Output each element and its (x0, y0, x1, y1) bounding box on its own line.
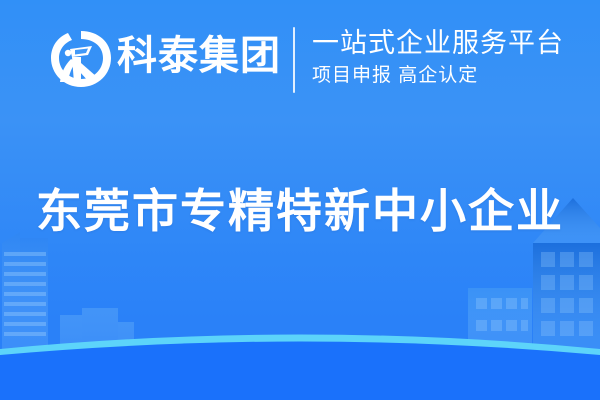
ground-band (0, 342, 600, 400)
brand-name: 科泰集团 (117, 30, 281, 82)
ketai-logo-icon[interactable] (48, 27, 114, 93)
site-header: 科泰集团 一站式企业服务平台 项目申报 高企认定 (0, 0, 600, 118)
page-title: 东莞市专精特新中小企业 (36, 178, 564, 244)
tagline-sub: 项目申报 高企认定 (312, 61, 582, 91)
header-divider (293, 27, 295, 93)
tagline-main: 一站式企业服务平台 (312, 25, 582, 61)
banner-root: 科泰集团 一站式企业服务平台 项目申报 高企认定 东莞市专精特新中小企业 (0, 0, 600, 400)
left-tower (2, 232, 48, 353)
tagline-block: 一站式企业服务平台 项目申报 高企认定 (312, 25, 582, 91)
main-title-wrap: 东莞市专精特新中小企业 (0, 178, 600, 244)
